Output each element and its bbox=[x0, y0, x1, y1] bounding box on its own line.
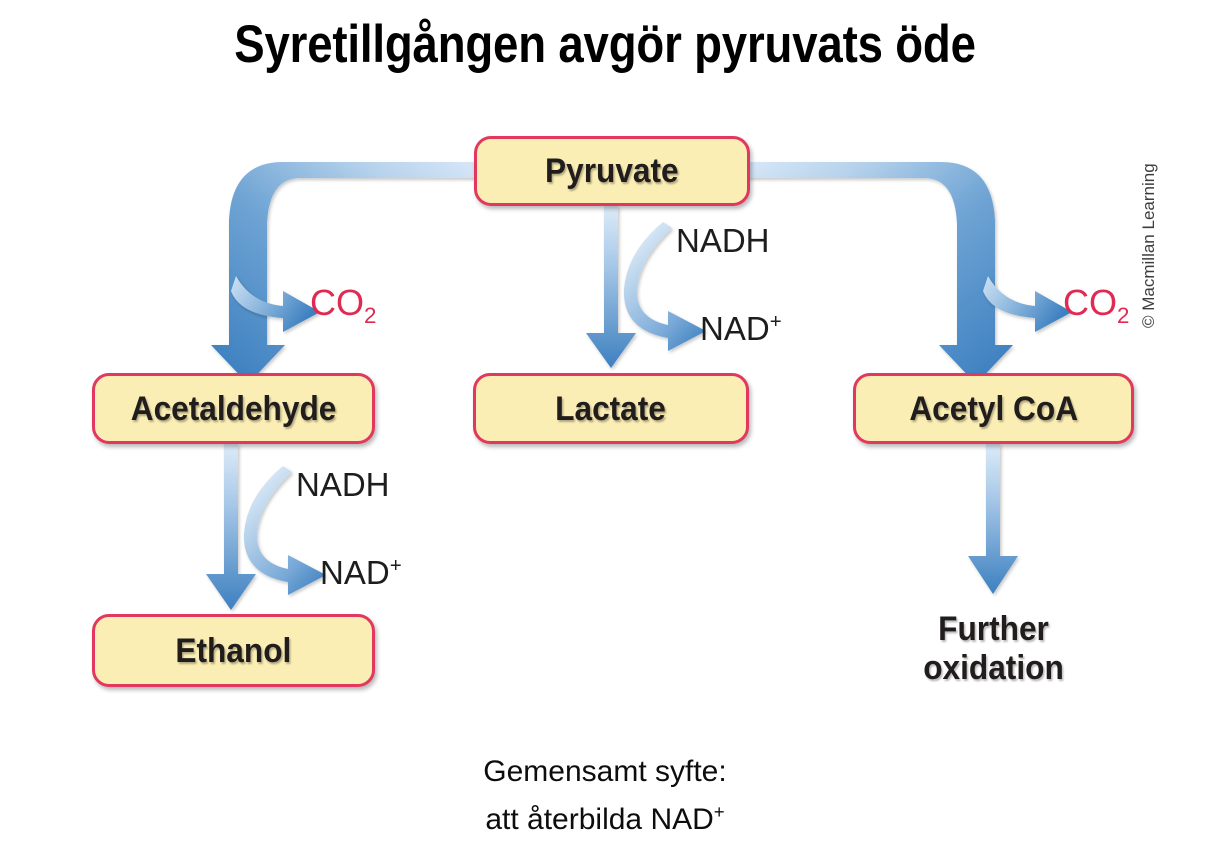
label-nadh-left: NADH bbox=[296, 466, 390, 504]
node-pyruvate[interactable]: Pyruvate bbox=[474, 136, 750, 206]
further-oxidation-line-1: Further bbox=[863, 610, 1124, 649]
label-nad-left: NAD+ bbox=[320, 547, 402, 592]
label-co2-left-subscript: 2 bbox=[364, 303, 376, 328]
arrow-co2-right bbox=[983, 276, 1072, 332]
label-nad-middle: NAD+ bbox=[700, 303, 782, 348]
label-nad-middle-superscript: + bbox=[770, 310, 782, 333]
node-lactate-label: Lactate bbox=[556, 391, 667, 427]
label-co2-right: CO2 bbox=[1063, 283, 1129, 336]
label-co2-right-text: CO bbox=[1063, 282, 1117, 323]
label-co2-left-text: CO bbox=[310, 282, 364, 323]
label-co2-right-subscript: 2 bbox=[1117, 303, 1129, 328]
caption-line-2: att återbilda NAD+ bbox=[0, 792, 1210, 840]
node-acetyl-coa-label: Acetyl CoA bbox=[909, 391, 1078, 427]
label-nad-left-superscript: + bbox=[390, 554, 402, 577]
node-acetyl-coa[interactable]: Acetyl CoA bbox=[853, 373, 1134, 444]
arrow-pyruvate-to-acetaldehyde bbox=[211, 162, 478, 384]
label-co2-left: CO2 bbox=[310, 283, 376, 336]
label-nad-left-text: NAD bbox=[320, 554, 390, 591]
node-acetaldehyde[interactable]: Acetaldehyde bbox=[92, 373, 375, 444]
node-pyruvate-label: Pyruvate bbox=[545, 153, 679, 189]
arrow-pyruvate-to-acetylcoa bbox=[746, 162, 1013, 384]
node-acetaldehyde-label: Acetaldehyde bbox=[131, 391, 337, 427]
node-ethanol[interactable]: Ethanol bbox=[92, 614, 375, 687]
arrow-acetylcoa-to-further-oxidation bbox=[968, 444, 1018, 594]
bottom-caption: Gemensamt syfte: att återbilda NAD+ bbox=[0, 752, 1210, 840]
label-nad-middle-text: NAD bbox=[700, 310, 770, 347]
node-ethanol-label: Ethanol bbox=[176, 633, 292, 669]
further-oxidation-line-2: oxidation bbox=[863, 649, 1124, 688]
label-nadh-middle: NADH bbox=[676, 222, 770, 260]
diagram-page: Syretillgången avgör pyruvats öde bbox=[0, 0, 1210, 842]
label-further-oxidation: Further oxidation bbox=[863, 610, 1124, 688]
caption-line-1: Gemensamt syfte: bbox=[0, 752, 1210, 792]
copyright-credit: © Macmillan Learning bbox=[1139, 163, 1158, 328]
caption-line-2-superscript: + bbox=[714, 801, 725, 822]
caption-line-2-text: att återbilda NAD bbox=[485, 803, 713, 836]
node-lactate[interactable]: Lactate bbox=[473, 373, 749, 444]
